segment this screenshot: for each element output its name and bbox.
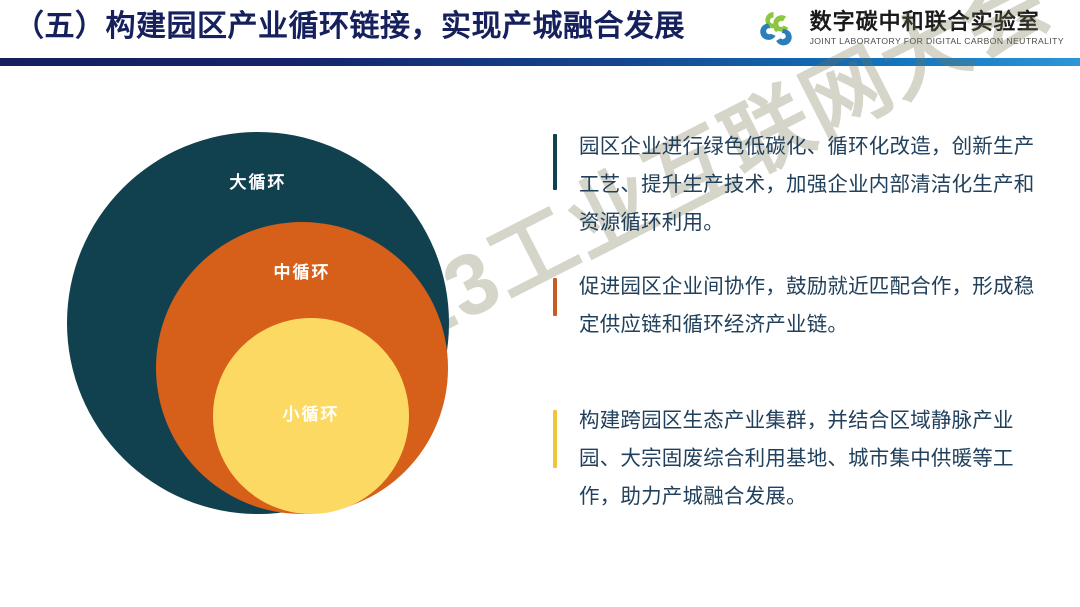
- content-block-3-text: 构建跨园区生态产业集群，并结合区域静脉产业园、大宗固废综合利用基地、城市集中供暖…: [579, 402, 1053, 516]
- joint-laboratory-logo-icon: [753, 8, 801, 48]
- content-block-2-text: 促进园区企业间协作，鼓励就近匹配合作，形成稳定供应链和循环经济产业链。: [579, 268, 1053, 344]
- accent-bar-1: [553, 134, 557, 190]
- page-title: （五）构建园区产业循环链接，实现产城融合发展: [14, 7, 685, 47]
- content-block-1: 园区企业进行绿色低碳化、循环化改造，创新生产工艺、提升生产技术，加强企业内部清洁…: [553, 128, 1053, 268]
- circle-inner: 小循环: [213, 318, 409, 514]
- logo-name-cn: 数字碳中和联合实验室: [810, 9, 1064, 34]
- nested-circle-diagram: 大循环 中循环 小循环: [60, 120, 480, 520]
- circle-inner-label: 小循环: [283, 400, 340, 514]
- accent-bar-2: [553, 278, 557, 316]
- logo-wordmark: 数字碳中和联合实验室 JOINT LABORATORY FOR DIGITAL …: [810, 9, 1064, 47]
- organization-logo: 数字碳中和联合实验室 JOINT LABORATORY FOR DIGITAL …: [753, 8, 1064, 48]
- accent-bar-3: [553, 410, 557, 468]
- header-divider: [0, 58, 1080, 66]
- slide: （五）构建园区产业循环链接，实现产城融合发展 数字碳中和联合实验室: [0, 0, 1080, 607]
- logo-name-en: JOINT LABORATORY FOR DIGITAL CARBON NEUT…: [810, 35, 1064, 47]
- content-block-2: 促进园区企业间协作，鼓励就近匹配合作，形成稳定供应链和循环经济产业链。: [553, 268, 1053, 402]
- content-column: 园区企业进行绿色低碳化、循环化改造，创新生产工艺、提升生产技术，加强企业内部清洁…: [553, 128, 1053, 516]
- slide-header: （五）构建园区产业循环链接，实现产城融合发展 数字碳中和联合实验室: [0, 0, 1080, 56]
- content-block-3: 构建跨园区生态产业集群，并结合区域静脉产业园、大宗固废综合利用基地、城市集中供暖…: [553, 402, 1053, 516]
- content-block-1-text: 园区企业进行绿色低碳化、循环化改造，创新生产工艺、提升生产技术，加强企业内部清洁…: [579, 128, 1053, 242]
